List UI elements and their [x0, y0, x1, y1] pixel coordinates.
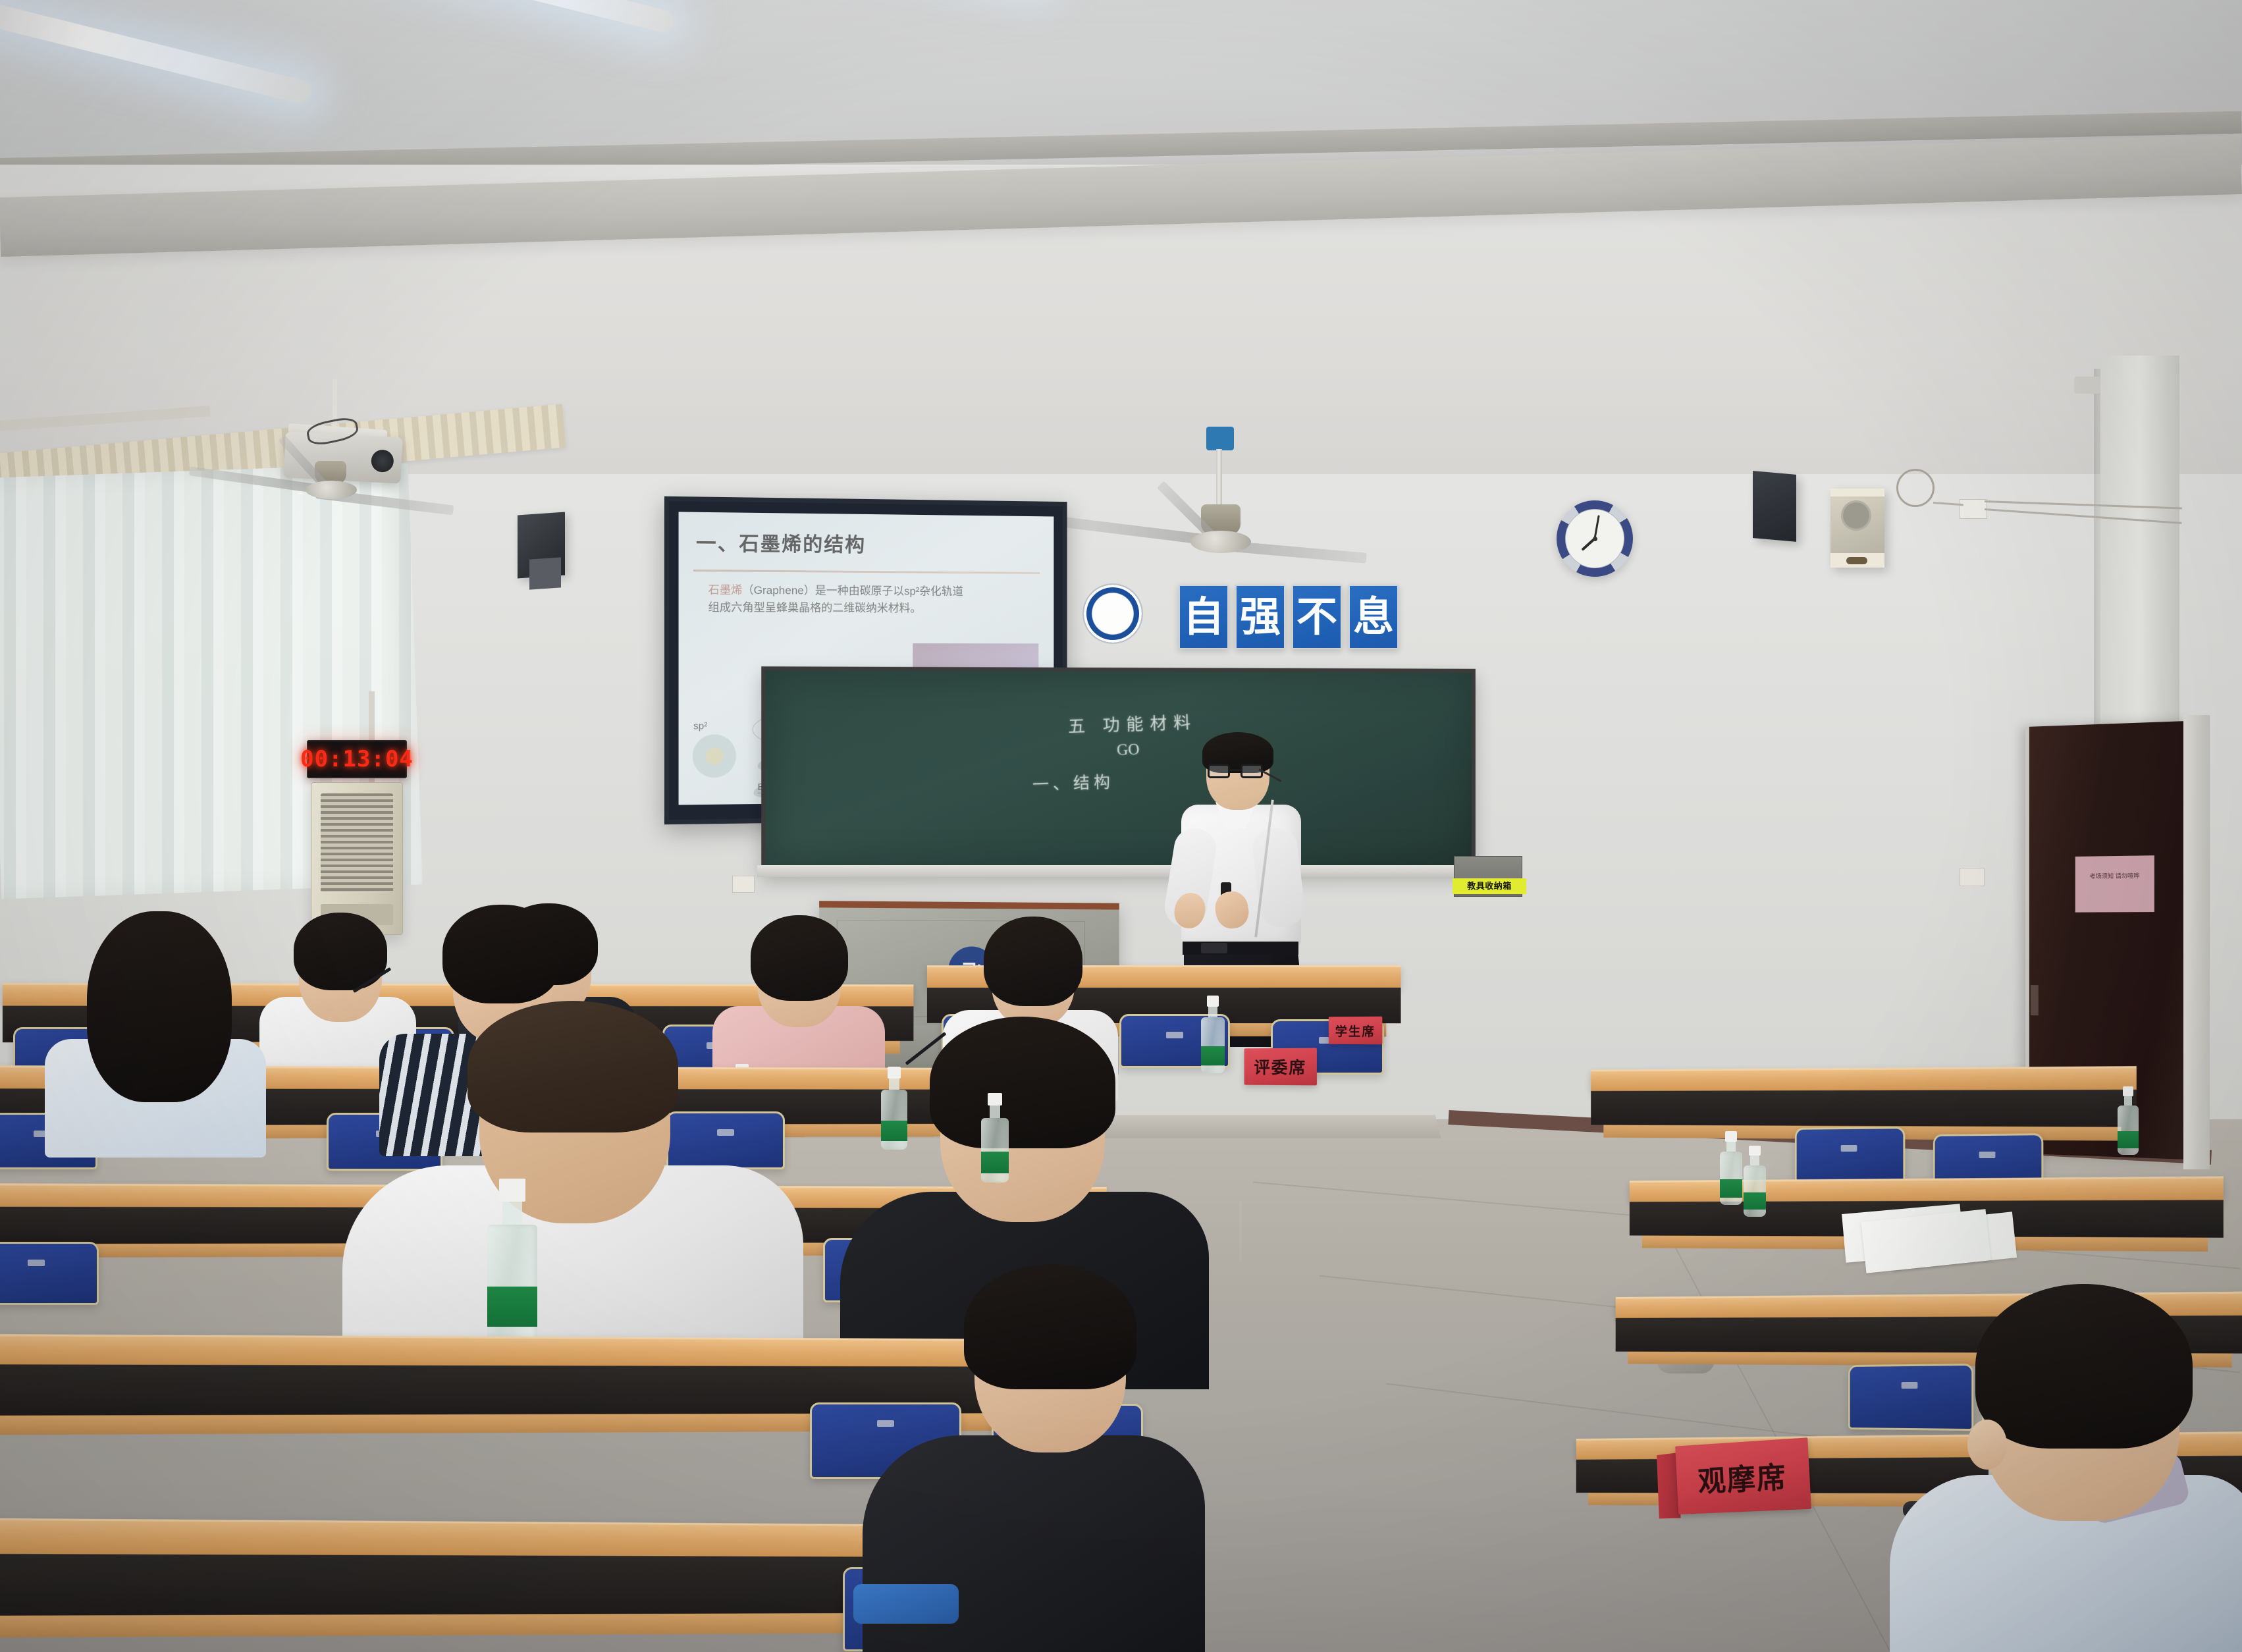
desk-front: [0, 1553, 888, 1616]
door-notice: 考场须知 请勿喧哗: [2075, 855, 2154, 912]
desk-top: [1591, 1066, 2137, 1091]
blackboard-line-2: GO: [1117, 741, 1140, 759]
ac-vent-grill-icon: [321, 793, 393, 892]
bottle-body: [487, 1225, 537, 1343]
university-emblem: 飞: [1082, 583, 1143, 644]
person-hair: [964, 1264, 1136, 1389]
person-hair: [984, 917, 1082, 1006]
chair-tag: [28, 1260, 45, 1266]
slide-sentence-2: 组成六角型呈蜂巢晶格的二维碳纳米材料。: [708, 601, 922, 615]
wall-socket[interactable]: [732, 876, 755, 893]
water-bottle[interactable]: [981, 1093, 1009, 1183]
bottle-label: [487, 1287, 537, 1327]
bottle-neck: [2124, 1096, 2133, 1106]
bottle-neck: [1750, 1156, 1759, 1165]
speaker-grill-icon: [1841, 500, 1871, 531]
bottle-cap: [499, 1179, 525, 1202]
countdown-timer-display: 00:13:04: [307, 740, 407, 778]
water-bottle[interactable]: [487, 1179, 537, 1343]
bottle-cap: [988, 1093, 1002, 1106]
ceiling-fan-hub: [306, 481, 357, 499]
person-ear: [1967, 1420, 2007, 1470]
clock-minute-hand: [1594, 515, 1600, 539]
ceiling-fan-mount: [1206, 427, 1234, 450]
slogan-plaque-1: 自: [1179, 585, 1229, 649]
bottle-body: [1720, 1152, 1742, 1205]
ceiling-fan-rod: [1216, 449, 1222, 507]
audience-member-5: [55, 917, 253, 1134]
pa-vent-icon: [1846, 557, 1867, 564]
sp2-label: sp²: [693, 720, 707, 732]
bottle-label: [2118, 1131, 2139, 1148]
bottle-cap: [1725, 1131, 1737, 1142]
chair[interactable]: [1795, 1127, 1905, 1186]
chalk-tray: [757, 865, 1481, 877]
water-bottle[interactable]: [1720, 1131, 1742, 1205]
bottle-body: [1744, 1165, 1766, 1217]
presenter-belt: [1183, 942, 1298, 955]
glasses-bridge: [1230, 769, 1241, 771]
slogan-plaque-2: 强: [1235, 585, 1285, 649]
water-bottle[interactable]: [1201, 996, 1225, 1073]
trouser-seam: [1239, 1201, 1242, 1262]
slide-sentence-1: （Graphene）是一种由碳原子以sp²杂化轨道: [742, 584, 963, 598]
bottle-neck: [1208, 1007, 1217, 1018]
belt-buckle-icon: [1201, 943, 1227, 953]
bottle-body: [2118, 1106, 2139, 1155]
bottle-neck: [990, 1106, 1001, 1118]
slide-keyword: 石墨烯: [708, 583, 743, 597]
water-bottle[interactable]: [2118, 1086, 2139, 1155]
bottle-label: [1201, 1046, 1225, 1065]
bottle-label: [1720, 1179, 1742, 1197]
glasses-lens-left: [1208, 764, 1230, 778]
sp2-orbital-icon: [691, 732, 747, 789]
desk-front: [1591, 1090, 2137, 1127]
blackboard[interactable]: 五 功能材料 GO 一、结构: [761, 666, 1476, 873]
chair[interactable]: [0, 1242, 99, 1305]
pa-bell-unit: [1830, 489, 1884, 568]
timer-value: 00:13:04: [300, 746, 414, 772]
wall-speaker-right: [1753, 471, 1796, 542]
bottle-neck: [1726, 1142, 1736, 1152]
blackboard-line-1: 五 功能材料: [1067, 709, 1197, 738]
person-hair: [1975, 1284, 2193, 1449]
clock-center-pin: [1593, 537, 1597, 541]
chair-tag: [1841, 1145, 1857, 1152]
audience-member-foreground: [1896, 1284, 2242, 1652]
bottle-neck: [502, 1202, 522, 1225]
speaker-bracket: [529, 557, 561, 589]
person-hair: [930, 1017, 1115, 1148]
bottle-body: [1201, 1017, 1225, 1073]
slide-body-text: 石墨烯（Graphene）是一种由碳原子以sp²杂化轨道 组成六角型呈蜂巢晶格的…: [708, 581, 1039, 618]
slide-title: 一、石墨烯的结构: [696, 527, 866, 558]
bottle-cap: [2123, 1086, 2134, 1096]
blackboard-line-3: 一、结构: [1032, 769, 1114, 795]
desk-top: [1630, 1176, 2224, 1202]
projector-lens-icon: [371, 449, 394, 473]
teaching-aid-box-label: 教具收纳箱: [1453, 878, 1526, 894]
desk-top: [0, 1517, 888, 1557]
chair-tag: [1979, 1152, 1996, 1158]
bottle-body: [981, 1118, 1009, 1183]
air-conditioner[interactable]: [311, 782, 403, 935]
bottle-label: [1744, 1192, 1766, 1210]
desk-row-5: [0, 1517, 888, 1652]
door-frame: [2183, 715, 2210, 1169]
person-hair: [467, 1001, 678, 1132]
wall-clock: [1557, 500, 1633, 577]
bottle-cap: [1207, 996, 1219, 1007]
judges-seat-sign: 评委席: [1244, 1048, 1317, 1086]
student-seat-sign: 学生席: [1329, 1017, 1383, 1045]
door-notice-text: 考场须知 请勿喧哗: [2075, 872, 2154, 882]
wall-socket[interactable]: [1960, 868, 1985, 886]
mobile-phone[interactable]: [853, 1584, 959, 1624]
bottle-label: [981, 1152, 1009, 1173]
water-bottle[interactable]: [1744, 1146, 1766, 1217]
wall-socket[interactable]: [1960, 499, 1987, 519]
coiled-cable: [1896, 469, 1935, 507]
desk-shelf: [0, 1613, 875, 1638]
bottle-cap: [1749, 1146, 1761, 1156]
security-camera: [2074, 377, 2100, 394]
ceiling-fan-hub: [1190, 531, 1251, 553]
slogan-plaque-3: 不: [1292, 585, 1342, 649]
emblem-glyph-icon: 飞: [1100, 595, 1126, 633]
door-handle[interactable]: [2031, 985, 2039, 1015]
slide-divider: [693, 570, 1040, 574]
observation-seat-sign: 观摩席: [1675, 1437, 1811, 1514]
clock-face: [1565, 509, 1624, 568]
audience-member-7: [369, 968, 797, 1337]
person-hair-long: [87, 911, 232, 1102]
classroom-photo: 一、石墨烯的结构 石墨烯（Graphene）是一种由碳原子以sp²杂化轨道 组成…: [0, 0, 2242, 1652]
slogan-plaque-4: 息: [1348, 585, 1399, 649]
